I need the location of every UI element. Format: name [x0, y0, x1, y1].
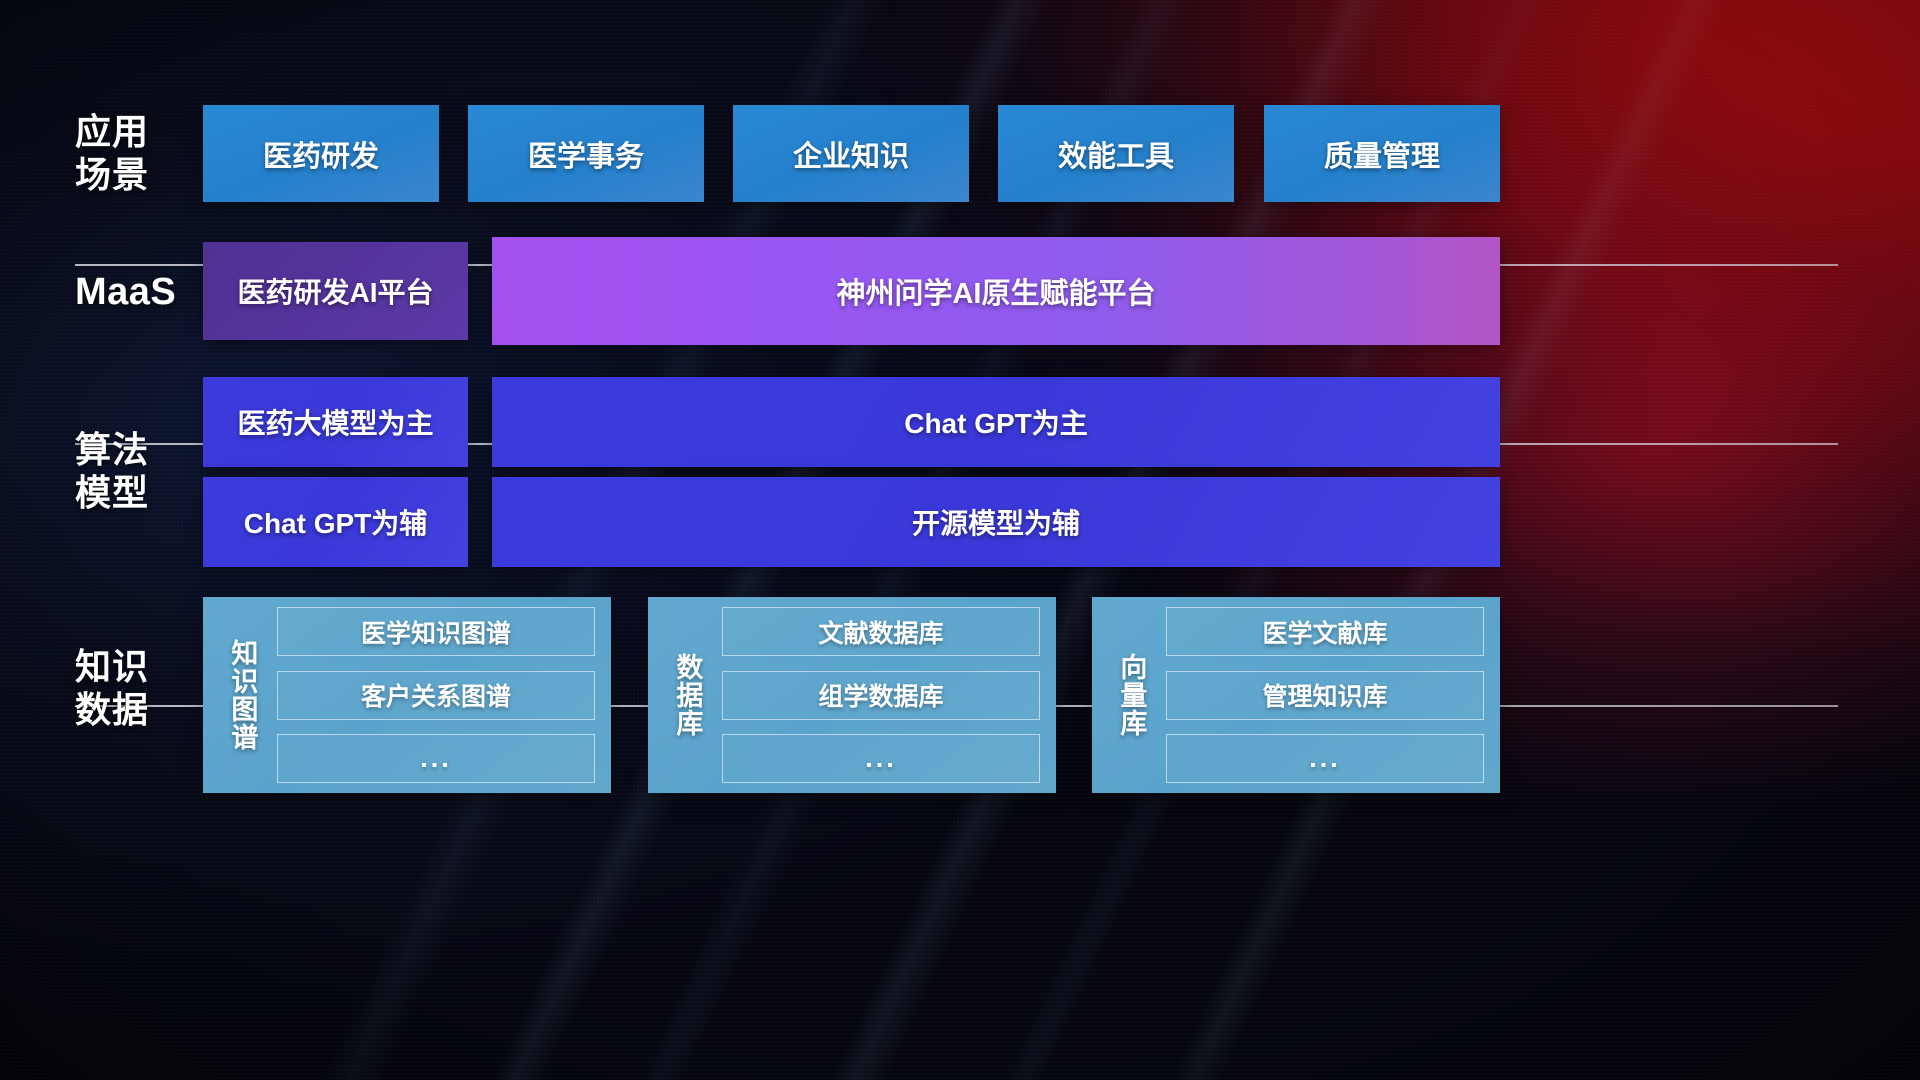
maas-right-box[interactable]: 神州问学AI原生赋能平台	[492, 237, 1500, 345]
algo-left-box-1[interactable]: 医药大模型为主	[203, 377, 468, 467]
app-scenario-box-4[interactable]: 效能工具	[998, 105, 1234, 202]
app-scenario-box-3[interactable]: 企业知识	[733, 105, 969, 202]
knowledge-panel-graph-items: 医学知识图谱 客户关系图谱 ...	[277, 607, 599, 783]
knowledge-panel-graph-title: 知识图谱	[219, 639, 265, 751]
app-scenario-box-5[interactable]: 质量管理	[1264, 105, 1500, 202]
app-scenario-box-1[interactable]: 医药研发	[203, 105, 439, 202]
slide-canvas: 应用 场景 医药研发 医学事务 企业知识 效能工具 质量管理 MaaS 医药研发…	[0, 0, 1920, 1080]
knowledge-item-more[interactable]: ...	[1166, 734, 1484, 783]
knowledge-item-more[interactable]: ...	[277, 734, 595, 783]
app-scenario-box-2[interactable]: 医学事务	[468, 105, 704, 202]
row-label-application-scenarios: 应用 场景	[75, 110, 195, 196]
knowledge-panel-database[interactable]: 数据库 文献数据库 组学数据库 ...	[648, 597, 1056, 793]
knowledge-item[interactable]: 管理知识库	[1166, 671, 1484, 720]
knowledge-item[interactable]: 医学文献库	[1166, 607, 1484, 656]
row-label-algorithm-model: 算法 模型	[75, 428, 195, 514]
knowledge-item[interactable]: 客户关系图谱	[277, 671, 595, 720]
knowledge-panel-vector-title: 向量库	[1108, 653, 1154, 737]
knowledge-item[interactable]: 医学知识图谱	[277, 607, 595, 656]
algo-right-box-1[interactable]: Chat GPT为主	[492, 377, 1500, 467]
maas-left-box[interactable]: 医药研发AI平台	[203, 242, 468, 340]
knowledge-item[interactable]: 组学数据库	[722, 671, 1040, 720]
knowledge-panel-vector[interactable]: 向量库 医学文献库 管理知识库 ...	[1092, 597, 1500, 793]
row-label-knowledge-data: 知识 数据	[75, 645, 195, 731]
algo-left-box-2[interactable]: Chat GPT为辅	[203, 477, 468, 567]
knowledge-item-more[interactable]: ...	[722, 734, 1040, 783]
knowledge-panel-database-items: 文献数据库 组学数据库 ...	[722, 607, 1044, 783]
knowledge-panel-graph[interactable]: 知识图谱 医学知识图谱 客户关系图谱 ...	[203, 597, 611, 793]
algo-right-box-2[interactable]: 开源模型为辅	[492, 477, 1500, 567]
knowledge-panel-vector-items: 医学文献库 管理知识库 ...	[1166, 607, 1488, 783]
knowledge-panel-database-title: 数据库	[664, 653, 710, 737]
knowledge-item[interactable]: 文献数据库	[722, 607, 1040, 656]
row-label-maas: MaaS	[75, 270, 195, 316]
